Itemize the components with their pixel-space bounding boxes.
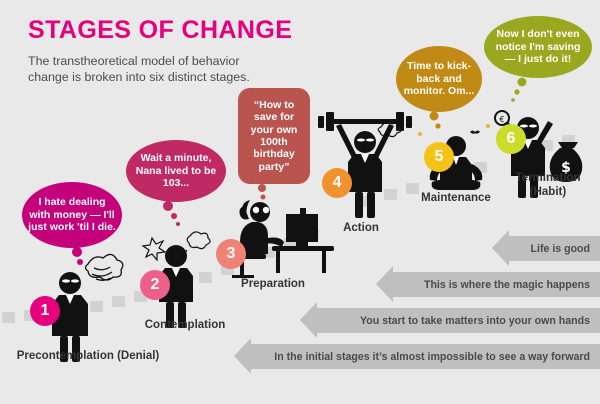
stage-label-6: Termination (Habit) — [496, 172, 600, 199]
arrow-left-icon — [300, 302, 317, 338]
banner-arrow-2: This is where the magic happens — [392, 272, 600, 297]
banner-arrow-4-text: In the initial stages it’s almost imposs… — [274, 351, 600, 363]
bubble-5-tail — [511, 78, 526, 102]
banner-arrow-3-text: You start to take matters into your own … — [360, 315, 600, 327]
stage-badge-3: 3 — [216, 239, 246, 269]
stage-label-4: Action — [316, 222, 406, 236]
svg-text:€: € — [499, 115, 504, 124]
arrow-left-icon — [376, 266, 393, 302]
stage-badge-1: 1 — [30, 296, 60, 326]
infographic-canvas: € $ STAGES OF CH — [0, 0, 600, 404]
speech-bubble-5: Now I don't even notice I'm saving — I j… — [484, 16, 592, 78]
page-subtitle: The transtheoretical model of behavior c… — [28, 54, 263, 85]
scribble-cloud-icon — [86, 254, 123, 280]
stage-label-3: Preparation — [208, 278, 338, 292]
arrow-left-icon — [492, 230, 509, 266]
bubble-3-tail — [258, 184, 266, 200]
speech-bubble-4-text: Time to kick-back and monitor. Om... — [401, 60, 477, 97]
arrow-left-icon — [234, 338, 251, 374]
spark-icon — [143, 238, 165, 260]
speech-bubble-5-text: Now I don't even notice I'm saving — I j… — [490, 28, 586, 65]
bubble-2-tail — [163, 201, 180, 226]
speech-bubble-3-text: “How to save for your own 100th birthday… — [243, 99, 305, 173]
speech-bubble-1-text: I hate dealing with money — I'll just wo… — [28, 196, 116, 233]
speech-bubble-4: Time to kick-back and monitor. Om... — [396, 46, 482, 112]
banner-arrow-1: Life is good — [508, 236, 600, 261]
speech-bubble-2: Wait a minute, Nana lived to be 103... — [126, 140, 226, 202]
speech-bubble-1: I hate dealing with money — I'll just wo… — [22, 182, 122, 248]
person-at-desk-icon — [232, 200, 334, 278]
stage-badge-2: 2 — [140, 270, 170, 300]
stage-badge-5: 5 — [424, 142, 454, 172]
banner-arrow-2-text: This is where the magic happens — [424, 279, 600, 291]
speech-bubble-3: “How to save for your own 100th birthday… — [238, 88, 310, 184]
banner-arrow-1-text: Life is good — [531, 243, 600, 255]
stage-badge-4: 4 — [322, 168, 352, 198]
speech-bubble-2-text: Wait a minute, Nana lived to be 103... — [132, 152, 220, 189]
banner-arrow-3: You start to take matters into your own … — [316, 308, 600, 333]
stage-label-2: Contemplation — [110, 319, 260, 333]
person-lifting-barbell-icon — [318, 112, 412, 218]
banner-arrow-4: In the initial stages it’s almost imposs… — [250, 344, 600, 369]
page-title: STAGES OF CHANGE — [28, 18, 292, 43]
bubble-4-tail — [430, 112, 441, 129]
bubble-1-tail — [72, 247, 83, 265]
stage-badge-6: 6 — [496, 124, 526, 154]
stage-label-1: Precontemplation (Denial) — [0, 350, 176, 364]
